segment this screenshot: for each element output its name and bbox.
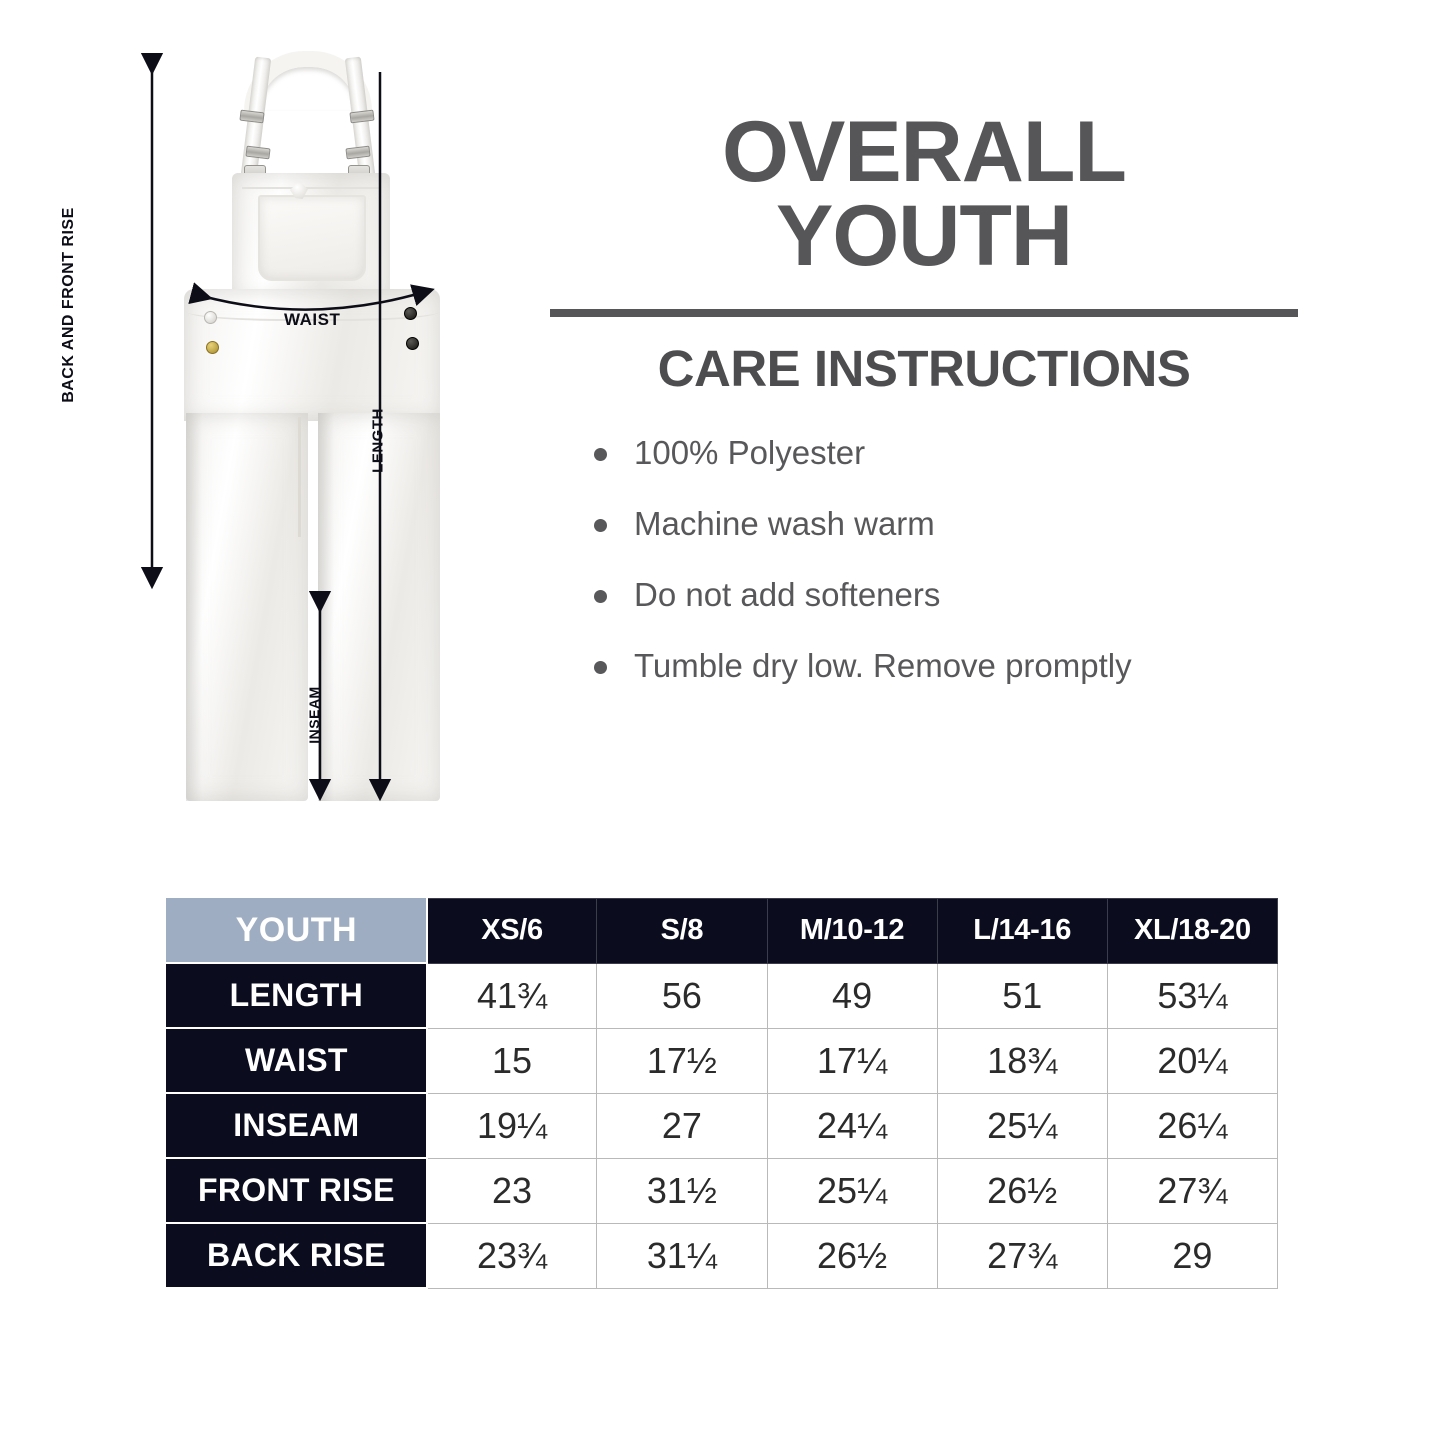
list-item: Do not add softeners: [594, 578, 1300, 611]
bullet-icon: [594, 661, 607, 674]
table-row: LENGTH 41¾ 56 49 51 53¼: [167, 963, 1278, 1028]
measurement-cell: 31½: [597, 1158, 767, 1223]
title-line-1: OVERALL: [548, 110, 1300, 194]
care-instructions-heading: CARE INSTRUCTIONS: [548, 339, 1300, 398]
measurement-cell: 31¼: [597, 1223, 767, 1288]
inseam-label: INSEAM: [306, 660, 322, 770]
measurement-cell: 25¼: [767, 1158, 937, 1223]
row-label: INSEAM: [167, 1093, 427, 1158]
list-item: Machine wash warm: [594, 507, 1300, 540]
column-header-size: S/8: [597, 899, 767, 964]
table-head: YOUTH XS/6 S/8 M/10-12 L/14-16 XL/18-20: [167, 899, 1278, 964]
bib-seam: [242, 177, 380, 189]
measurement-cell: 29: [1107, 1223, 1277, 1288]
table-row: WAIST 15 17½ 17¼ 18¾ 20¼: [167, 1028, 1278, 1093]
list-item: Tumble dry low. Remove promptly: [594, 649, 1300, 682]
title-line-2: YOUTH: [548, 194, 1300, 278]
strap-buckle: [349, 110, 374, 124]
side-button: [404, 307, 417, 320]
measurement-cell: 27: [597, 1093, 767, 1158]
left-leg: [186, 413, 308, 801]
waist-label: WAIST: [284, 310, 340, 330]
measurement-cell: 25¼: [937, 1093, 1107, 1158]
side-button: [206, 341, 219, 354]
info-panel: OVERALL YOUTH CARE INSTRUCTIONS 100% Pol…: [548, 110, 1300, 720]
care-instructions-list: 100% Polyester Machine wash warm Do not …: [548, 436, 1300, 682]
fly-seam: [298, 417, 301, 537]
column-header-size: L/14-16: [937, 899, 1107, 964]
measurement-cell: 51: [937, 963, 1107, 1028]
table-row: FRONT RISE 23 31½ 25¼ 26½ 27¾: [167, 1158, 1278, 1223]
bullet-icon: [594, 448, 607, 461]
side-button: [204, 311, 217, 324]
table-row: BACK RISE 23¾ 31¼ 26½ 27¾ 29: [167, 1223, 1278, 1288]
measurement-cell: 24¼: [767, 1093, 937, 1158]
table-body: LENGTH 41¾ 56 49 51 53¼ WAIST 15 17½ 17¼…: [167, 963, 1278, 1288]
measurement-cell: 41¾: [427, 963, 597, 1028]
measurement-cell: 15: [427, 1028, 597, 1093]
column-header-size: XL/18-20: [1107, 899, 1277, 964]
measurement-cell: 27¾: [937, 1223, 1107, 1288]
table-corner-label: YOUTH: [167, 899, 427, 964]
side-button: [406, 337, 419, 350]
title-divider: [550, 309, 1298, 317]
measurement-cell: 19¼: [427, 1093, 597, 1158]
row-label: BACK RISE: [167, 1223, 427, 1288]
bullet-icon: [594, 590, 607, 603]
list-item: 100% Polyester: [594, 436, 1300, 469]
page-title: OVERALL YOUTH: [548, 110, 1300, 279]
garment-diagram-panel: BACK AND FRONT RISE WAIST LENGTH INSEAM: [0, 0, 540, 830]
measurement-cell: 27¾: [1107, 1158, 1277, 1223]
measurement-cell: 17¼: [767, 1028, 937, 1093]
measurement-cell: 26½: [937, 1158, 1107, 1223]
measurement-cell: 49: [767, 963, 937, 1028]
table-row: INSEAM 19¼ 27 24¼ 25¼ 26¼: [167, 1093, 1278, 1158]
bib-pocket: [258, 195, 366, 281]
size-chart-table-wrapper: YOUTH XS/6 S/8 M/10-12 L/14-16 XL/18-20 …: [166, 898, 1278, 1289]
row-label: FRONT RISE: [167, 1158, 427, 1223]
leg-shading: [186, 413, 202, 801]
column-header-size: XS/6: [427, 899, 597, 964]
size-chart-table: YOUTH XS/6 S/8 M/10-12 L/14-16 XL/18-20 …: [166, 898, 1278, 1289]
measurement-cell: 56: [597, 963, 767, 1028]
care-item-label: 100% Polyester: [634, 434, 865, 471]
measurement-cell: 26½: [767, 1223, 937, 1288]
strap-buckle: [239, 110, 264, 124]
column-header-size: M/10-12: [767, 899, 937, 964]
measurement-cell: 23: [427, 1158, 597, 1223]
measurement-cell: 53¼: [1107, 963, 1277, 1028]
measurement-cell: 23¾: [427, 1223, 597, 1288]
bullet-icon: [594, 519, 607, 532]
row-label: LENGTH: [167, 963, 427, 1028]
care-item-label: Tumble dry low. Remove promptly: [634, 647, 1132, 684]
rise-label: BACK AND FRONT RISE: [60, 170, 78, 440]
care-item-label: Do not add softeners: [634, 576, 940, 613]
measurement-cell: 17½: [597, 1028, 767, 1093]
care-item-label: Machine wash warm: [634, 505, 935, 542]
row-label: WAIST: [167, 1028, 427, 1093]
table-header-row: YOUTH XS/6 S/8 M/10-12 L/14-16 XL/18-20: [167, 899, 1278, 964]
length-label: LENGTH: [370, 381, 387, 501]
measurement-cell: 20¼: [1107, 1028, 1277, 1093]
measurement-cell: 18¾: [937, 1028, 1107, 1093]
measurement-cell: 26¼: [1107, 1093, 1277, 1158]
